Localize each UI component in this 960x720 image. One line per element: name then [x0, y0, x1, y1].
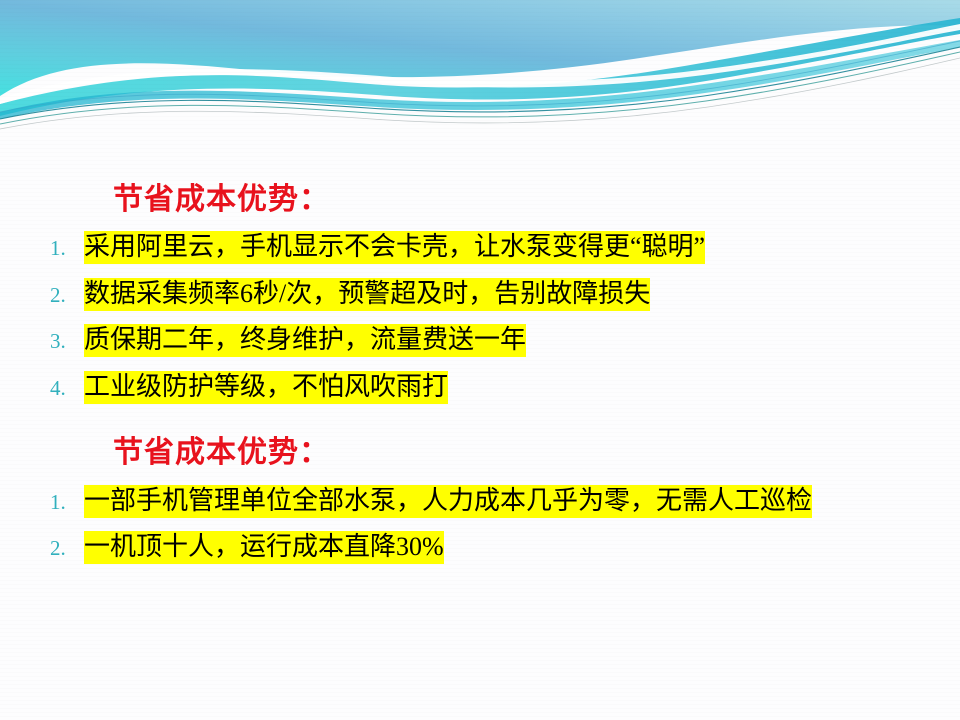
section-heading-1: 节省成本优势：: [113, 174, 330, 218]
list-item-text: 采用阿里云，手机显示不会卡壳，让水泵变得更“聪明”: [84, 231, 705, 264]
section-heading-2: 节省成本优势：: [113, 427, 330, 471]
list-marker: 1.: [50, 490, 84, 515]
slide-content: 节省成本优势： 1. 采用阿里云，手机显示不会卡壳，让水泵变得更“聪明” 2. …: [0, 0, 960, 720]
list-item-text: 质保期二年，终身维护，流量费送一年: [84, 324, 526, 357]
list-marker: 3.: [50, 329, 84, 354]
list-item-text: 工业级防护等级，不怕风吹雨打: [84, 371, 448, 404]
presentation-slide: 节省成本优势： 1. 采用阿里云，手机显示不会卡壳，让水泵变得更“聪明” 2. …: [0, 0, 960, 720]
list-item: 1. 一部手机管理单位全部水泵，人力成本几乎为零，无需人工巡检: [50, 485, 812, 518]
list-item: 2. 数据采集频率6秒/次，预警超及时，告别故障损失: [50, 278, 650, 311]
list-item: 4. 工业级防护等级，不怕风吹雨打: [50, 371, 448, 404]
list-marker: 4.: [50, 376, 84, 401]
list-marker: 2.: [50, 536, 84, 561]
list-item-text: 数据采集频率6秒/次，预警超及时，告别故障损失: [84, 278, 650, 311]
list-item: 2. 一机顶十人，运行成本直降30%: [50, 531, 444, 564]
list-marker: 1.: [50, 236, 84, 261]
list-item-text: 一部手机管理单位全部水泵，人力成本几乎为零，无需人工巡检: [84, 485, 812, 518]
list-item: 1. 采用阿里云，手机显示不会卡壳，让水泵变得更“聪明”: [50, 231, 705, 264]
list-item-text: 一机顶十人，运行成本直降30%: [84, 531, 444, 564]
list-marker: 2.: [50, 283, 84, 308]
list-item: 3. 质保期二年，终身维护，流量费送一年: [50, 324, 526, 357]
